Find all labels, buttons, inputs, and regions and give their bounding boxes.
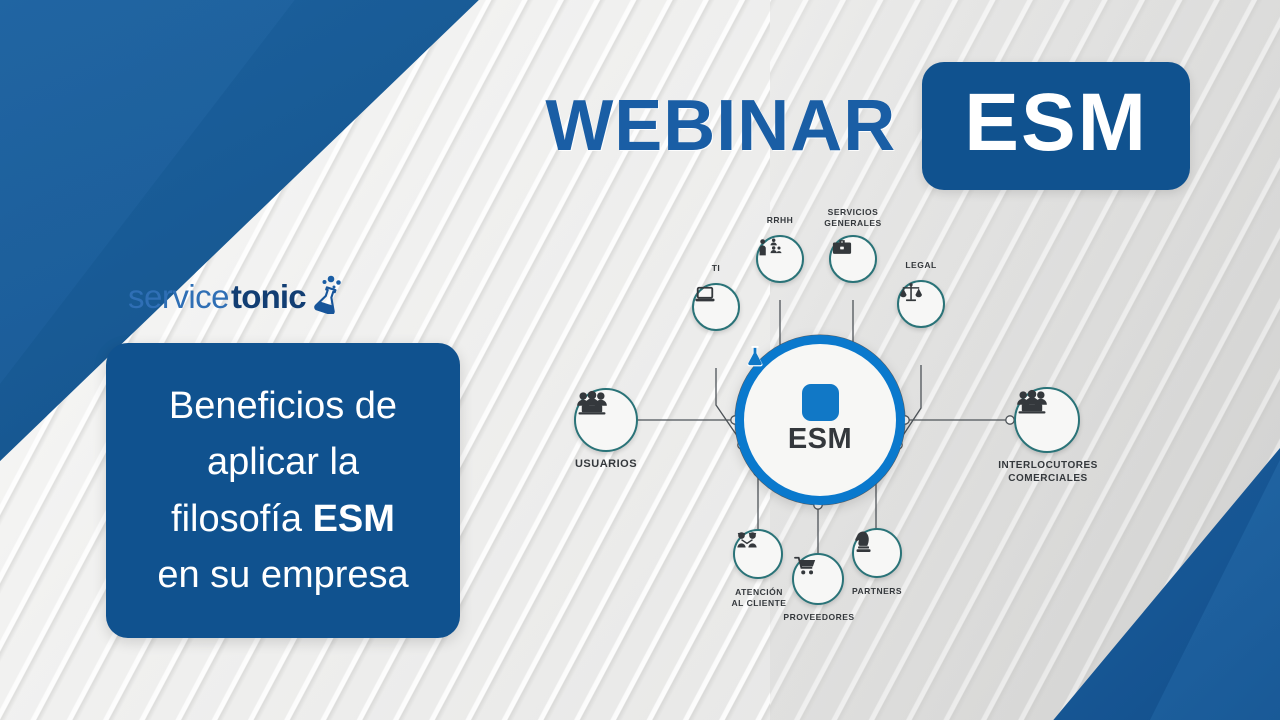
diagram-node-label-servicios-generales: SERVICIOS GENERALES (808, 207, 898, 228)
diagram-node-label-atencion-al-cliente: ATENCIÓN AL CLIENTE (713, 587, 805, 608)
diagram-node-ti[interactable] (692, 283, 740, 331)
diagram-node-label-legal: LEGAL (881, 260, 961, 271)
logo-text-service: service (128, 278, 229, 316)
flask-icon (309, 274, 343, 319)
diagram-node-interlocutores-comerciales[interactable] (1014, 387, 1080, 453)
diagram-node-label-proveedores: PROVEEDORES (778, 612, 860, 623)
esm-ecosystem-diagram: ESM TI (520, 205, 1180, 645)
diagram-node-label-ti: TI (676, 263, 756, 274)
headline-line-1: Beneficios de (126, 378, 440, 434)
headline-esm-emphasis: ESM (313, 498, 395, 540)
diagram-node-rrhh[interactable] (756, 235, 804, 283)
diagram-node-servicios-generales[interactable] (829, 235, 877, 283)
headline-line-3-text: filosofía (171, 498, 313, 540)
esm-badge: ESM (922, 62, 1190, 190)
diagram-node-atencion-al-cliente[interactable] (733, 529, 783, 579)
diagram-node-usuarios[interactable] (574, 388, 638, 452)
hub-label: ESM (788, 423, 852, 456)
diagram-hub[interactable]: ESM (735, 335, 905, 505)
headline-panel: Beneficios de aplicar la filosofía ESM e… (106, 343, 460, 638)
logo-text-tonic: tonic (231, 278, 306, 316)
slide-canvas: WEBINAR ESM service tonic Beneficios de … (0, 0, 1280, 720)
diagram-node-legal[interactable] (897, 280, 945, 328)
diagram-node-partners[interactable] (852, 528, 902, 578)
diagram-node-label-usuarios: USUARIOS (556, 458, 656, 472)
headline-line-3: filosofía ESM (126, 491, 440, 547)
diagram-node-proveedores[interactable] (792, 553, 844, 605)
diagram-node-label-partners: PARTNERS (836, 586, 918, 597)
header: WEBINAR ESM (0, 62, 1190, 190)
headline-line-4: en su empresa (126, 547, 440, 603)
page-title: WEBINAR (545, 90, 896, 162)
servicetonic-logo: service tonic (128, 274, 343, 319)
diagram-node-label-interlocutores-comerciales: INTERLOCUTORES COMERCIALES (992, 460, 1104, 485)
flask-icon (802, 384, 839, 421)
headline-line-2: aplicar la (126, 434, 440, 490)
